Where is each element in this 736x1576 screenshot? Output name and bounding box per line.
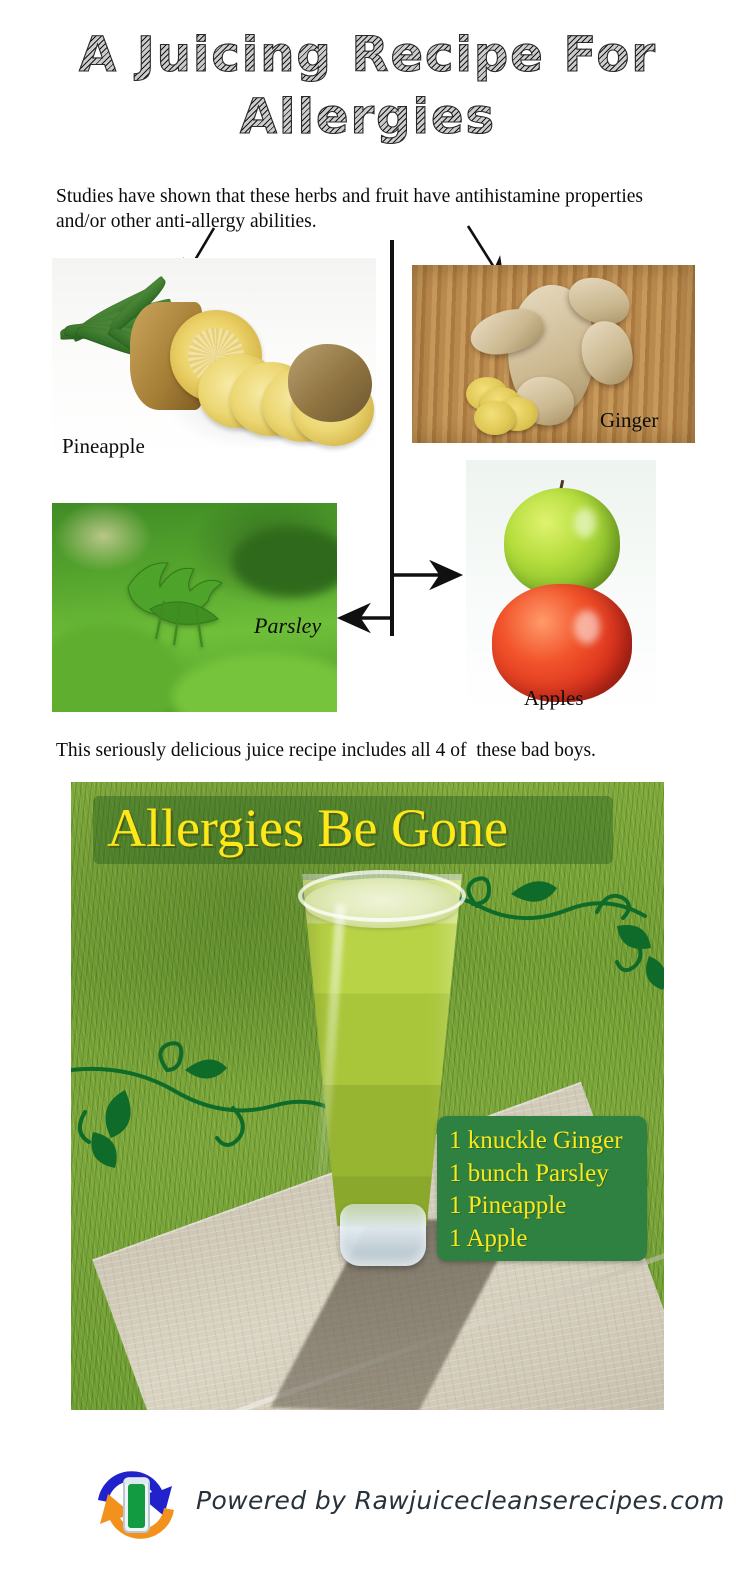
recipe-ingredients-list: 1 knuckle Ginger 1 bunch Parsley 1 Pinea…	[437, 1116, 647, 1255]
mid-paragraph: This seriously delicious juice recipe in…	[56, 738, 696, 763]
page-title-line-1: A Juicing Recipe For	[0, 24, 736, 86]
parsley-bokeh	[172, 653, 337, 712]
intro-paragraph: Studies have shown that these herbs and …	[56, 184, 656, 234]
banner-title: Allergies Be Gone	[107, 798, 664, 858]
logo-glass-rim	[124, 1478, 149, 1484]
red-apple	[492, 584, 632, 702]
caption-parsley: Parsley	[254, 613, 321, 639]
apple-highlight	[574, 508, 596, 538]
apple-highlight	[574, 610, 600, 644]
caption-pineapple: Pineapple	[62, 434, 145, 459]
infographic-page: A Juicing Recipe For Allergies Studies h…	[0, 0, 736, 1576]
page-title: A Juicing Recipe For Allergies	[0, 24, 736, 148]
logo-glass-juice	[128, 1484, 145, 1528]
footer: Powered by Rawjuicecleanserecipes.com	[0, 1448, 736, 1558]
photo-pineapple	[52, 258, 376, 460]
list-item: 1 Apple	[449, 1223, 647, 1256]
photo-apples	[466, 460, 656, 712]
parsley-sprig-icon	[110, 543, 270, 653]
pineapple-crown-end	[288, 344, 372, 422]
caption-apples: Apples	[524, 686, 584, 711]
rawjuicecleanserecipes-logo-icon[interactable]	[84, 1456, 188, 1552]
green-apple	[504, 488, 620, 596]
page-title-line-2: Allergies	[0, 86, 736, 148]
recipe-ingredients-card: 1 knuckle Ginger 1 bunch Parsley 1 Pinea…	[437, 1116, 647, 1261]
photo-allergies-be-gone-juice: Allergies Be Gone 1 knuckle Ginger 1 bun…	[71, 782, 664, 1410]
list-item: 1 bunch Parsley	[449, 1158, 647, 1191]
list-item: 1 knuckle Ginger	[449, 1125, 647, 1158]
photo-parsley	[52, 503, 337, 712]
list-item: 1 Pineapple	[449, 1190, 647, 1223]
ginger-slice	[474, 401, 516, 435]
glass-base	[340, 1204, 426, 1266]
glass-rim	[298, 870, 466, 922]
caption-ginger: Ginger	[600, 408, 658, 433]
powered-by-text: Powered by Rawjuicecleanserecipes.com	[196, 1486, 725, 1515]
